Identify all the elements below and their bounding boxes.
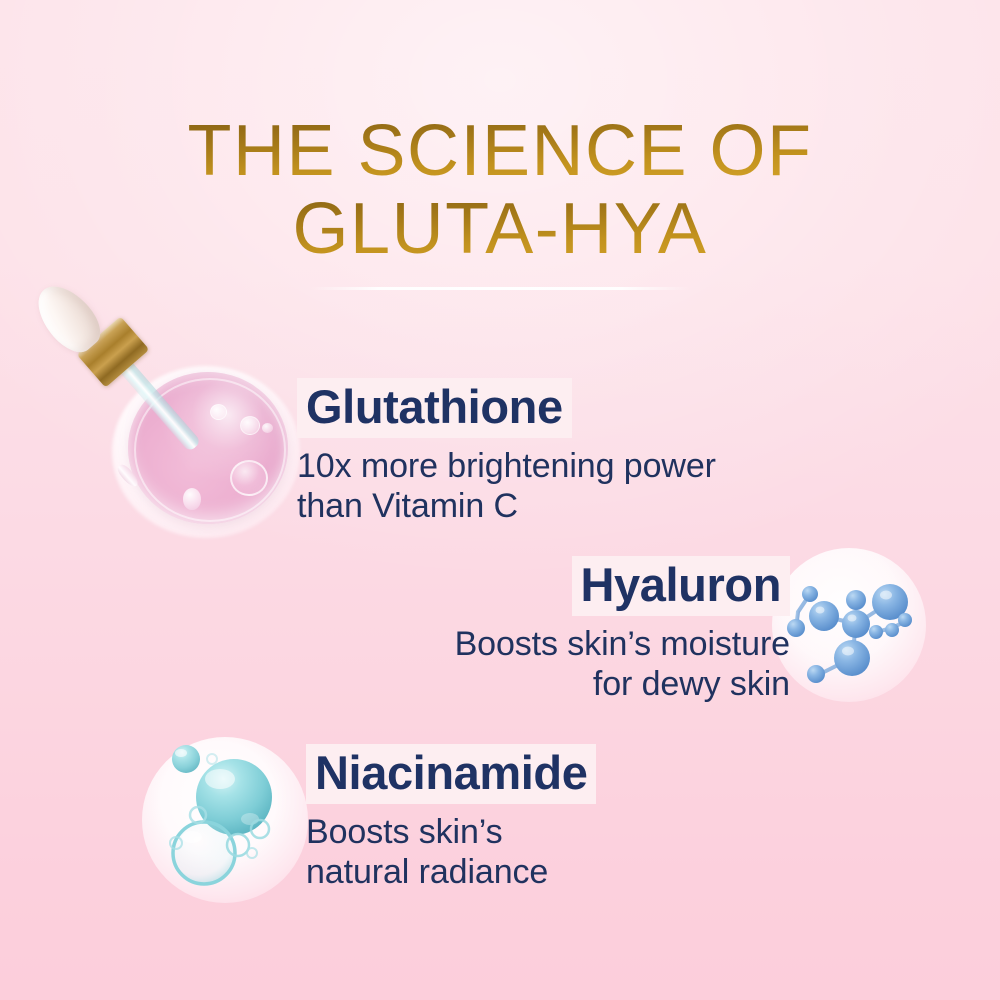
- ingredient-block-niacinamide: Niacinamide Boosts skin’s natural radian…: [306, 744, 596, 892]
- niacinamide-description: Boosts skin’s natural radiance: [306, 812, 596, 892]
- glutathione-description: 10x more brightening power than Vitamin …: [297, 446, 716, 526]
- dropper-droplet: [183, 488, 201, 510]
- niacinamide-description-line-2: natural radiance: [306, 852, 596, 892]
- glutathione-description-line-2: than Vitamin C: [297, 486, 716, 526]
- hyaluron-heading: Hyaluron: [572, 556, 791, 616]
- title-line-1: THE SCIENCE OF: [0, 112, 1000, 190]
- molecule-icon: [772, 548, 926, 702]
- infographic-canvas: THE SCIENCE OF GLUTA-HYA Glutathione 10x…: [0, 0, 1000, 1000]
- hyaluron-description-line-2: for dewy skin: [390, 664, 790, 704]
- bubble-cluster: [142, 737, 308, 903]
- serum-bubble-large: [230, 460, 268, 496]
- title-divider: [310, 287, 690, 290]
- page-title: THE SCIENCE OF GLUTA-HYA: [0, 112, 1000, 268]
- niacinamide-heading: Niacinamide: [306, 744, 596, 804]
- ingredient-block-glutathione: Glutathione 10x more brightening power t…: [297, 378, 716, 526]
- hyaluron-description-line-1: Boosts skin’s moisture: [390, 624, 790, 664]
- serum-bubble-small-a: [210, 404, 227, 420]
- serum-dropper-icon: [18, 268, 318, 538]
- title-line-2: GLUTA-HYA: [0, 190, 1000, 268]
- hyaluron-heading-highlight: Hyaluron: [390, 556, 790, 616]
- serum-bubble-small-c: [262, 423, 273, 433]
- glutathione-description-line-1: 10x more brightening power: [297, 446, 716, 486]
- glutathione-heading: Glutathione: [297, 378, 572, 438]
- molecule-structure: [772, 548, 926, 702]
- ingredient-block-hyaluron: Hyaluron Boosts skin’s moisture for dewy…: [390, 556, 790, 704]
- niacinamide-heading-highlight: Niacinamide: [306, 744, 596, 804]
- water-bubbles-icon: [142, 737, 308, 903]
- niacinamide-description-line-1: Boosts skin’s: [306, 812, 596, 852]
- glutathione-heading-highlight: Glutathione: [297, 378, 716, 438]
- serum-bubble-small-b: [240, 416, 260, 435]
- hyaluron-description: Boosts skin’s moisture for dewy skin: [390, 624, 790, 704]
